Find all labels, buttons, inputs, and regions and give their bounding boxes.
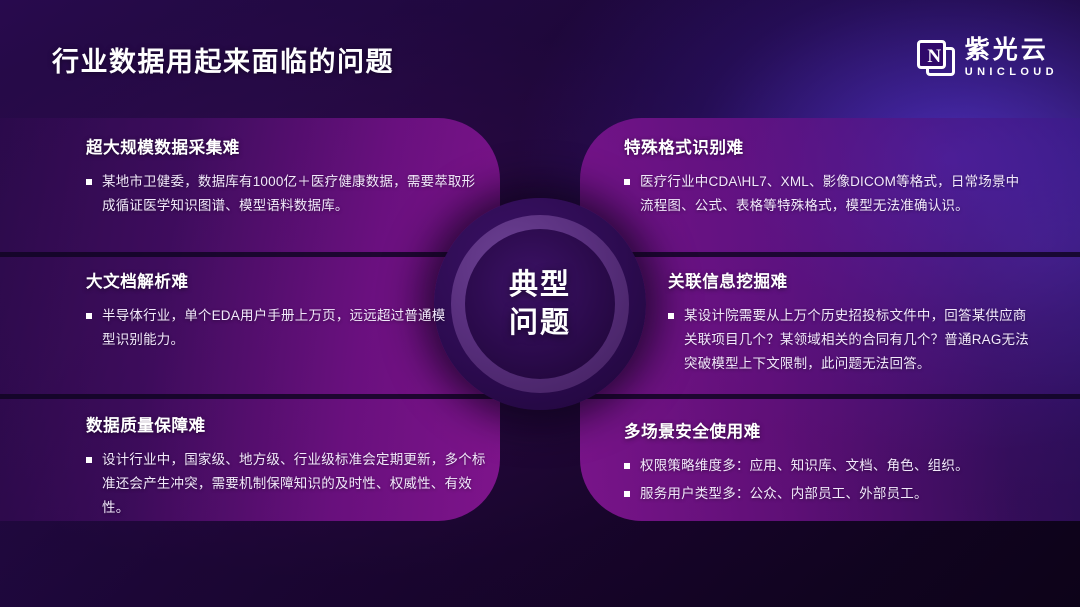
bullet-square-icon [86, 313, 92, 319]
problem-item-left-3: 数据质量保障难 设计行业中，国家级、地方级、行业级标准会定期更新，多个标准还会产… [86, 412, 494, 524]
bullet-item: 半导体行业，单个EDA用户手册上万页，远远超过普通模型识别能力。 [86, 304, 446, 352]
bullet-item: 医疗行业中CDA\HL7、XML、影像DICOM等格式，日常场景中流程图、公式、… [624, 170, 1024, 218]
logo-letter-n: N [924, 46, 945, 69]
problem-title: 特殊格式识别难 [624, 134, 1024, 158]
bullet-square-icon [86, 179, 92, 185]
right-panel-divider-2 [580, 394, 1080, 399]
bullet-text: 某设计院需要从上万个历史招投标文件中，回答某供应商关联项目几个？某领域相关的合同… [684, 304, 1040, 376]
logo-brand-cn: 紫光云 [965, 38, 1058, 63]
bullet-square-icon [624, 179, 630, 185]
bullet-item: 服务用户类型多：公众、内部员工、外部员工。 [624, 482, 1024, 506]
logo-brand-en: UNICLOUD [965, 67, 1058, 78]
bullet-square-icon [86, 457, 92, 463]
problem-item-left-2: 大文档解析难 半导体行业，单个EDA用户手册上万页，远远超过普通模型识别能力。 [86, 268, 446, 356]
center-badge: 典型 问题 [434, 198, 646, 410]
bullet-item: 权限策略维度多：应用、知识库、文档、角色、组织。 [624, 454, 1024, 478]
bullet-text: 权限策略维度多：应用、知识库、文档、角色、组织。 [640, 454, 969, 478]
bullet-text: 服务用户类型多：公众、内部员工、外部员工。 [640, 482, 928, 506]
left-panel-divider-1 [0, 252, 500, 257]
bullet-square-icon [624, 463, 630, 469]
slide-root: 行业数据用起来面临的问题 N 紫光云 UNICLOUD 典型 问题 [0, 0, 1080, 607]
problem-title: 数据质量保障难 [86, 412, 494, 436]
badge-label: 典型 问题 [465, 229, 615, 379]
problem-item-left-1: 超大规模数据采集难 某地市卫健委，数据库有1000亿＋医疗健康数据，需要萃取形成… [86, 134, 486, 222]
problem-title: 大文档解析难 [86, 268, 446, 292]
right-panel-divider-1 [580, 252, 1080, 257]
bullet-item: 设计行业中，国家级、地方级、行业级标准会定期更新，多个标准还会产生冲突，需要机制… [86, 448, 494, 520]
bullet-item: 某地市卫健委，数据库有1000亿＋医疗健康数据，需要萃取形成循证医学知识图谱、模… [86, 170, 486, 218]
bullet-text: 医疗行业中CDA\HL7、XML、影像DICOM等格式，日常场景中流程图、公式、… [640, 170, 1024, 218]
bullet-square-icon [668, 313, 674, 319]
problem-title: 多场景安全使用难 [624, 418, 1024, 442]
logo-square-front-icon: N [917, 40, 946, 69]
problem-item-right-3: 多场景安全使用难 权限策略维度多：应用、知识库、文档、角色、组织。 服务用户类型… [624, 418, 1024, 510]
slide-header: 行业数据用起来面临的问题 N 紫光云 UNICLOUD [0, 0, 1080, 100]
left-panel-divider-2 [0, 394, 500, 399]
bullet-text: 半导体行业，单个EDA用户手册上万页，远远超过普通模型识别能力。 [102, 304, 446, 352]
problem-title: 超大规模数据采集难 [86, 134, 486, 158]
bullet-item: 某设计院需要从上万个历史招投标文件中，回答某供应商关联项目几个？某领域相关的合同… [668, 304, 1040, 376]
unicloud-logo-icon: N [917, 40, 955, 76]
problem-item-right-2: 关联信息挖掘难 某设计院需要从上万个历史招投标文件中，回答某供应商关联项目几个？… [668, 268, 1040, 380]
bullet-text: 设计行业中，国家级、地方级、行业级标准会定期更新，多个标准还会产生冲突，需要机制… [102, 448, 494, 520]
problem-title: 关联信息挖掘难 [668, 268, 1040, 292]
logo-text-block: 紫光云 UNICLOUD [965, 38, 1058, 78]
badge-label-line-1: 典型 [509, 268, 571, 302]
badge-label-line-2: 问题 [509, 306, 571, 340]
page-title: 行业数据用起来面临的问题 [52, 40, 394, 79]
bullet-square-icon [624, 491, 630, 497]
bullet-text: 某地市卫健委，数据库有1000亿＋医疗健康数据，需要萃取形成循证医学知识图谱、模… [102, 170, 486, 218]
problem-item-right-1: 特殊格式识别难 医疗行业中CDA\HL7、XML、影像DICOM等格式，日常场景… [624, 134, 1024, 222]
brand-logo: N 紫光云 UNICLOUD [917, 38, 1058, 78]
